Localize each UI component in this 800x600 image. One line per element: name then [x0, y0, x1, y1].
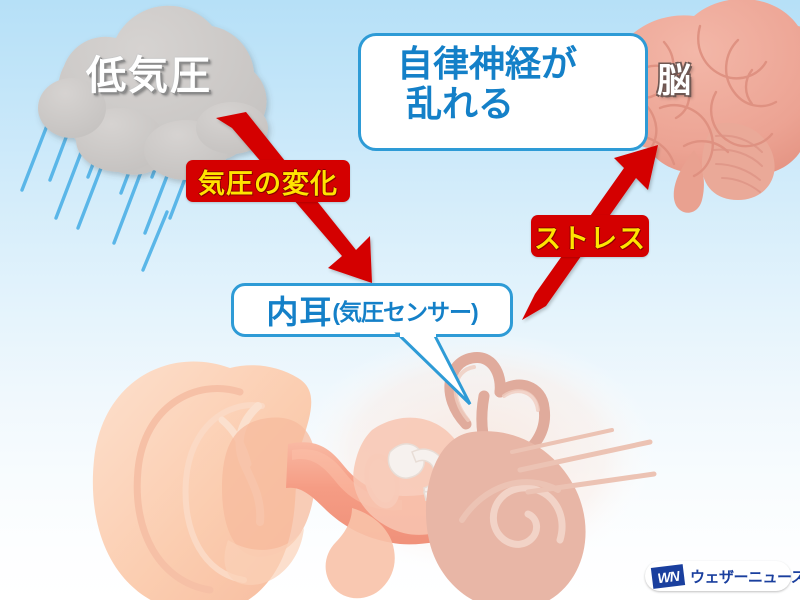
weathernews-logo-text: ウェザーニュース — [690, 566, 800, 587]
semicircular-canals-icon — [450, 357, 545, 462]
semicircular-canals-highlight — [456, 367, 538, 420]
ossicles-icon — [388, 444, 459, 522]
low-pressure-label: 低気圧 — [54, 43, 244, 101]
cochlea-icon — [426, 430, 654, 600]
autonomic-nerve-callout: 自律神経が 乱れる — [358, 33, 648, 151]
eustachian-tube-icon — [326, 508, 395, 598]
inner-ear-callout-tail — [398, 334, 470, 404]
rain-streaks-icon — [22, 104, 196, 270]
inner-ear-callout-sub: (気圧センサー) — [332, 293, 477, 327]
eardrum-icon — [359, 450, 406, 513]
autonomic-callout-line1: 自律神経が — [361, 44, 645, 84]
inner-ear-callout: 内耳(気圧センサー) — [231, 283, 513, 337]
pressure-change-label: 気圧の変化 — [186, 160, 350, 202]
ear-canal-icon — [286, 442, 466, 544]
ear-anatomy-icon — [93, 361, 316, 600]
weathernews-logo[interactable]: WN ウェザーニュース — [645, 561, 791, 591]
autonomic-callout-line2: 乱れる — [361, 84, 645, 124]
inner-ear-callout-main: 内耳 — [266, 287, 332, 333]
stress-label: ストレス — [531, 215, 649, 257]
middle-ear-body — [353, 418, 470, 535]
inner-ear-halo — [298, 330, 658, 580]
brain-label: 脳 — [657, 53, 691, 102]
infographic-canvas: 低気圧 気圧の変化 ストレス 自律神経が 乱れる 脳 内耳(気圧センサー) WN… — [0, 0, 800, 600]
wn-mark-icon: WN — [651, 564, 685, 589]
